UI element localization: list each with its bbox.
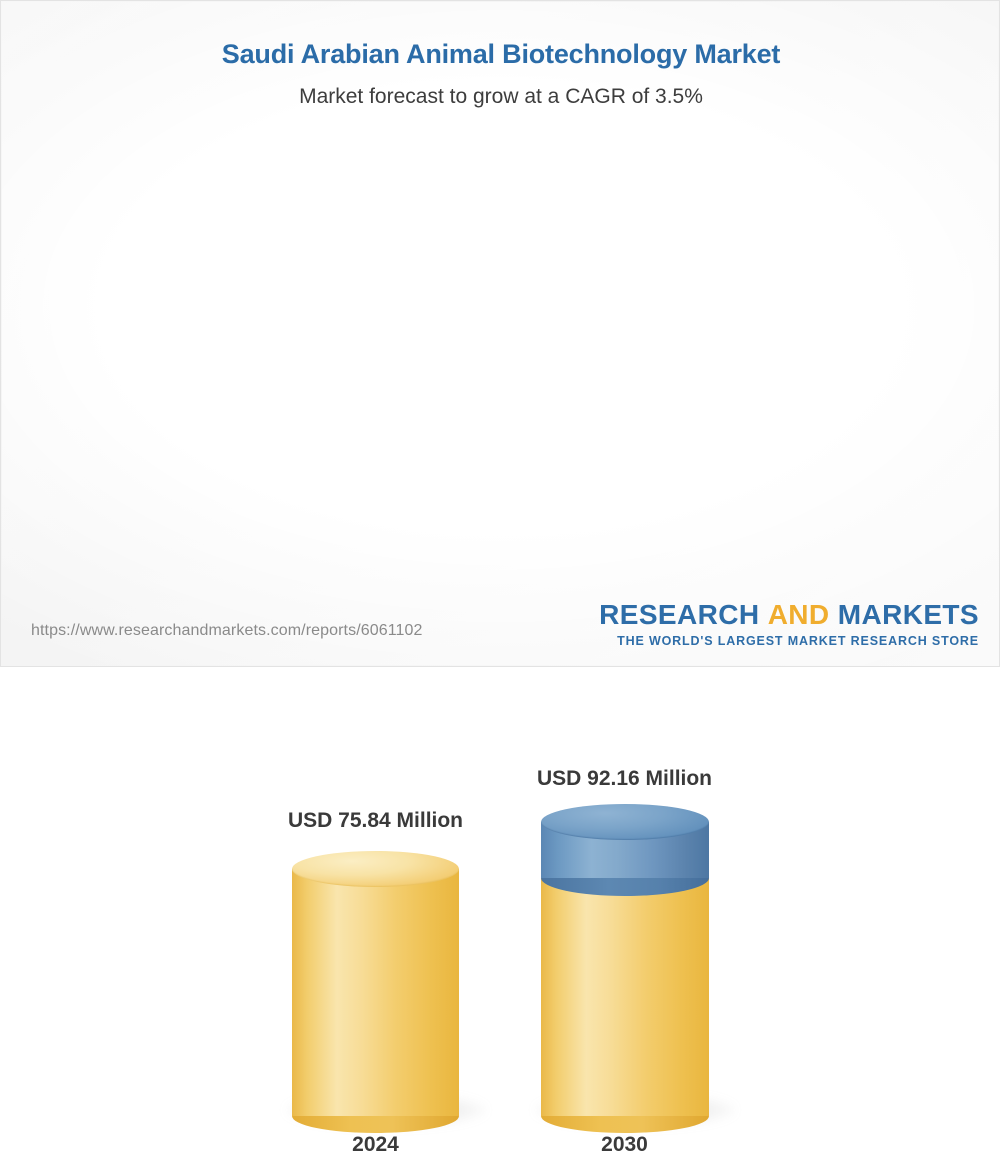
chart-canvas: Saudi Arabian Animal Biotechnology Marke… <box>0 0 1000 667</box>
bar-segment-base-2030[interactable] <box>541 876 709 1116</box>
source-url[interactable]: https://www.researchandmarkets.com/repor… <box>31 622 423 640</box>
chart-plot-area: USD 75.84 Million 2024 USD 92.16 Million… <box>1 1 1000 601</box>
bar-cylinder-body-2024[interactable] <box>292 869 459 1116</box>
logo-word-research: RESEARCH <box>599 599 759 630</box>
bar-cylinder-top-2024[interactable] <box>292 851 459 887</box>
brand-logo[interactable]: RESEARCH AND MARKETS THE WORLD'S LARGEST… <box>599 601 979 648</box>
bar-segment-growth-top-2030[interactable] <box>541 804 709 840</box>
bar-value-label-2024: USD 75.84 Million <box>242 809 509 833</box>
bar-category-label-2024: 2024 <box>242 1133 509 1157</box>
bar-category-label-2030: 2030 <box>491 1133 758 1157</box>
logo-word-and: AND <box>768 599 830 630</box>
bar-value-label-2030: USD 92.16 Million <box>491 767 758 791</box>
logo-tagline: THE WORLD'S LARGEST MARKET RESEARCH STOR… <box>599 635 979 648</box>
logo-wordmark: RESEARCH AND MARKETS <box>599 601 979 629</box>
logo-word-markets: MARKETS <box>838 599 979 630</box>
